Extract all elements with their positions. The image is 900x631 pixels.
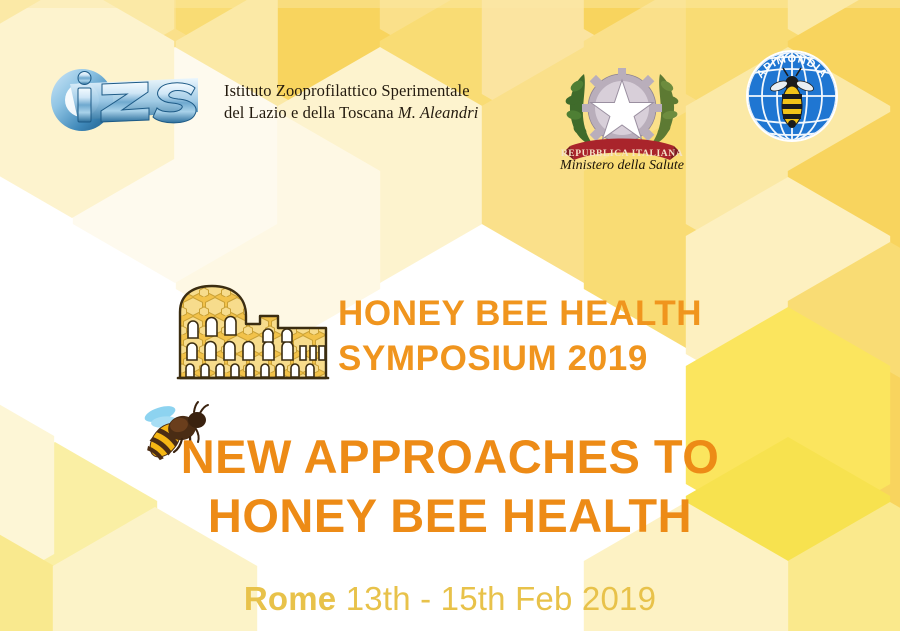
poster-canvas: Istituto Zooprofilattico Sperimentale de… xyxy=(0,0,900,631)
ministero-della-salute-logo: REPUBBLICA ITALIANA Ministero della Salu… xyxy=(556,52,688,172)
event-dates: 13th - 15th Feb 2019 xyxy=(336,580,656,617)
event-date-line: Rome 13th - 15th Feb 2019 xyxy=(0,580,900,618)
main-headline-line-2: HONEY BEE HEALTH xyxy=(0,487,900,546)
apimondia-logo: APIMONDIA xyxy=(738,42,846,150)
header-logo-row: Istituto Zooprofilattico Sperimentale de… xyxy=(0,0,900,190)
izs-line-2-italic: M. Aleandri xyxy=(398,103,479,122)
izs-line-2-plain: del Lazio e della Toscana xyxy=(224,103,398,122)
symposium-title-line-2: SYMPOSIUM 2019 xyxy=(338,337,758,382)
symposium-title-line-1: HONEY BEE HEALTH xyxy=(338,294,702,333)
izs-institute-name: Istituto Zooprofilattico Sperimentale de… xyxy=(224,80,524,124)
izs-line-1: Istituto Zooprofilattico Sperimentale xyxy=(224,81,470,100)
ministero-caption: Ministero della Salute xyxy=(559,158,684,172)
main-headline: NEW APPROACHES TO HONEY BEE HEALTH xyxy=(0,428,900,546)
main-headline-line-1: NEW APPROACHES TO xyxy=(181,430,720,483)
symposium-title: HONEY BEE HEALTH SYMPOSIUM 2019 xyxy=(338,292,758,382)
event-city: Rome xyxy=(244,580,337,617)
izs-logo xyxy=(48,58,208,136)
hex-cluster-right xyxy=(584,177,900,631)
colosseum-honeycomb-icon xyxy=(160,278,332,386)
